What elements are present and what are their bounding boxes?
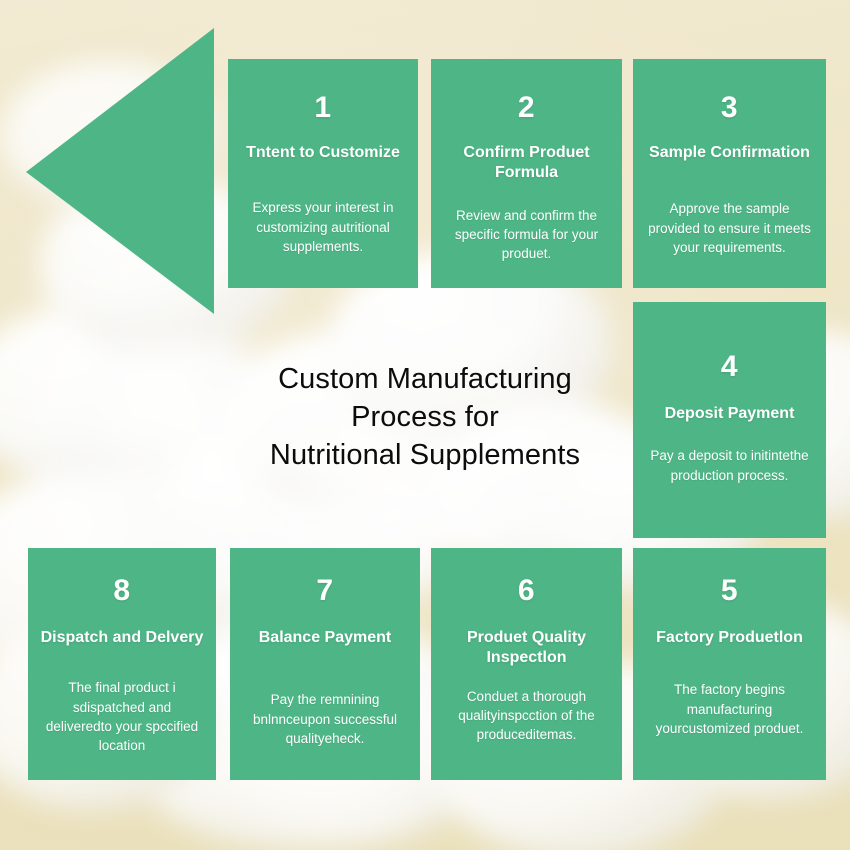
left-arrow-icon	[26, 28, 214, 314]
step-title-5: Factory Produetlon	[656, 628, 803, 648]
step-box-1[interactable]: 1 Tntent to Customize Express your inter…	[228, 59, 418, 288]
step-box-4[interactable]: 4 Deposit Payment Pay a deposit to initi…	[633, 302, 826, 538]
step-number-8: 8	[113, 576, 130, 606]
step-description-1: Express your interest in customizing aut…	[240, 198, 406, 255]
step-box-5[interactable]: 5 Factory Produetlon The factory begins …	[633, 548, 826, 780]
step-description-6: Conduet a thorough qualityinspcction of …	[443, 687, 610, 744]
step-number-2: 2	[518, 93, 535, 123]
step-title-2: Confirm Produet Formula	[443, 143, 610, 184]
step-number-7: 7	[316, 576, 333, 606]
step-description-7: Pay the remnining bnlnnceupon successful…	[242, 690, 408, 747]
step-description-5: The factory begins manufacturing yourcus…	[645, 680, 814, 737]
step-box-2[interactable]: 2 Confirm Produet Formula Review and con…	[431, 59, 622, 288]
step-description-4: Pay a deposit to initintethe production …	[645, 446, 814, 484]
page-title-line-2: Process for	[351, 399, 499, 437]
step-title-4: Deposit Payment	[665, 404, 795, 424]
step-description-3: Approve the sample provided to ensure it…	[645, 199, 814, 256]
page-title: Custom Manufacturing Process for Nutriti…	[228, 352, 622, 484]
infographic-canvas: 1 Tntent to Customize Express your inter…	[0, 0, 850, 850]
step-number-5: 5	[721, 576, 738, 606]
step-title-3: Sample Confirmation	[649, 143, 810, 163]
step-number-6: 6	[518, 576, 535, 606]
step-number-4: 4	[721, 352, 738, 382]
page-title-line-1: Custom Manufacturing	[278, 361, 572, 399]
step-number-3: 3	[721, 93, 738, 123]
step-box-7[interactable]: 7 Balance Payment Pay the remnining bnln…	[230, 548, 420, 780]
step-box-6[interactable]: 6 Produet Quality Inspectlon Conduet a t…	[431, 548, 622, 780]
step-number-1: 1	[314, 93, 331, 123]
step-title-8: Dispatch and Delvery	[41, 628, 204, 648]
step-title-1: Tntent to Customize	[246, 143, 400, 163]
step-box-3[interactable]: 3 Sample Confirmation Approve the sample…	[633, 59, 826, 288]
step-title-6: Produet Quality Inspectlon	[443, 628, 610, 669]
page-title-line-3: Nutritional Supplements	[270, 437, 580, 475]
step-title-7: Balance Payment	[259, 628, 392, 648]
step-description-2: Review and confirm the specific formula …	[443, 206, 610, 263]
step-description-8: The final product i sdispatched and deli…	[40, 678, 204, 755]
step-box-8[interactable]: 8 Dispatch and Delvery The final product…	[28, 548, 216, 780]
